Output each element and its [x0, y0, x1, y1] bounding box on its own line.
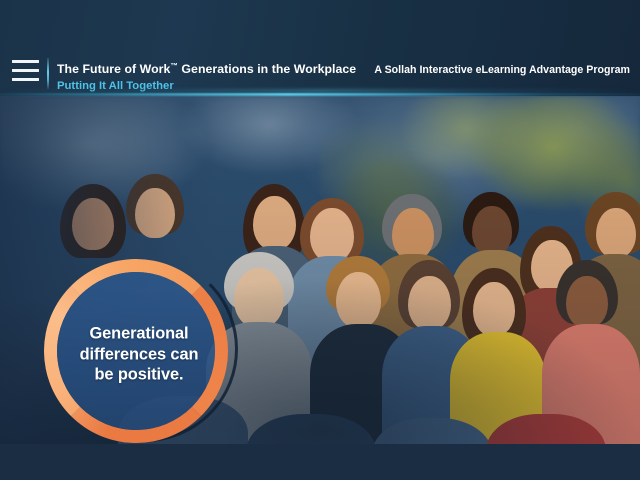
person-head [234, 268, 284, 328]
program-tagline: A Sollah Interactive eLearning Advantage… [374, 64, 630, 76]
person-head [72, 198, 114, 250]
person-head [408, 276, 451, 330]
person-head [336, 272, 381, 328]
bottom-band [0, 444, 640, 480]
hamburger-menu-icon[interactable] [12, 60, 39, 81]
callout-line-1: Generational [52, 323, 226, 344]
header-glow-line [0, 93, 640, 96]
person-head [392, 208, 434, 260]
person-head [253, 196, 296, 250]
hamburger-bar-3 [12, 78, 39, 81]
slide-image-area: Generational differences can be positive… [0, 96, 640, 444]
person-head [135, 188, 175, 238]
callout-line-3: be positive. [52, 364, 226, 385]
person-head [472, 206, 512, 256]
header-divider [47, 58, 49, 89]
slide-header: The Future of Work™ Generations in the W… [0, 0, 640, 96]
person-head [473, 282, 515, 336]
presentation-slide: The Future of Work™ Generations in the W… [0, 0, 640, 480]
course-title-rest: Generations in the Workplace [178, 62, 356, 76]
course-title: The Future of Work™ Generations in the W… [57, 58, 356, 77]
hamburger-bar-1 [12, 60, 39, 63]
person-head [596, 208, 636, 258]
callout-message: Generational differences can be positive… [44, 323, 234, 385]
trademark-symbol: ™ [170, 61, 178, 70]
callout-line-2: differences can [52, 344, 226, 365]
person-head [310, 208, 354, 262]
hamburger-bar-2 [12, 69, 39, 72]
person-head [566, 276, 608, 328]
course-title-main: The Future of Work [57, 62, 170, 76]
callout-circle: Generational differences can be positive… [44, 259, 234, 444]
